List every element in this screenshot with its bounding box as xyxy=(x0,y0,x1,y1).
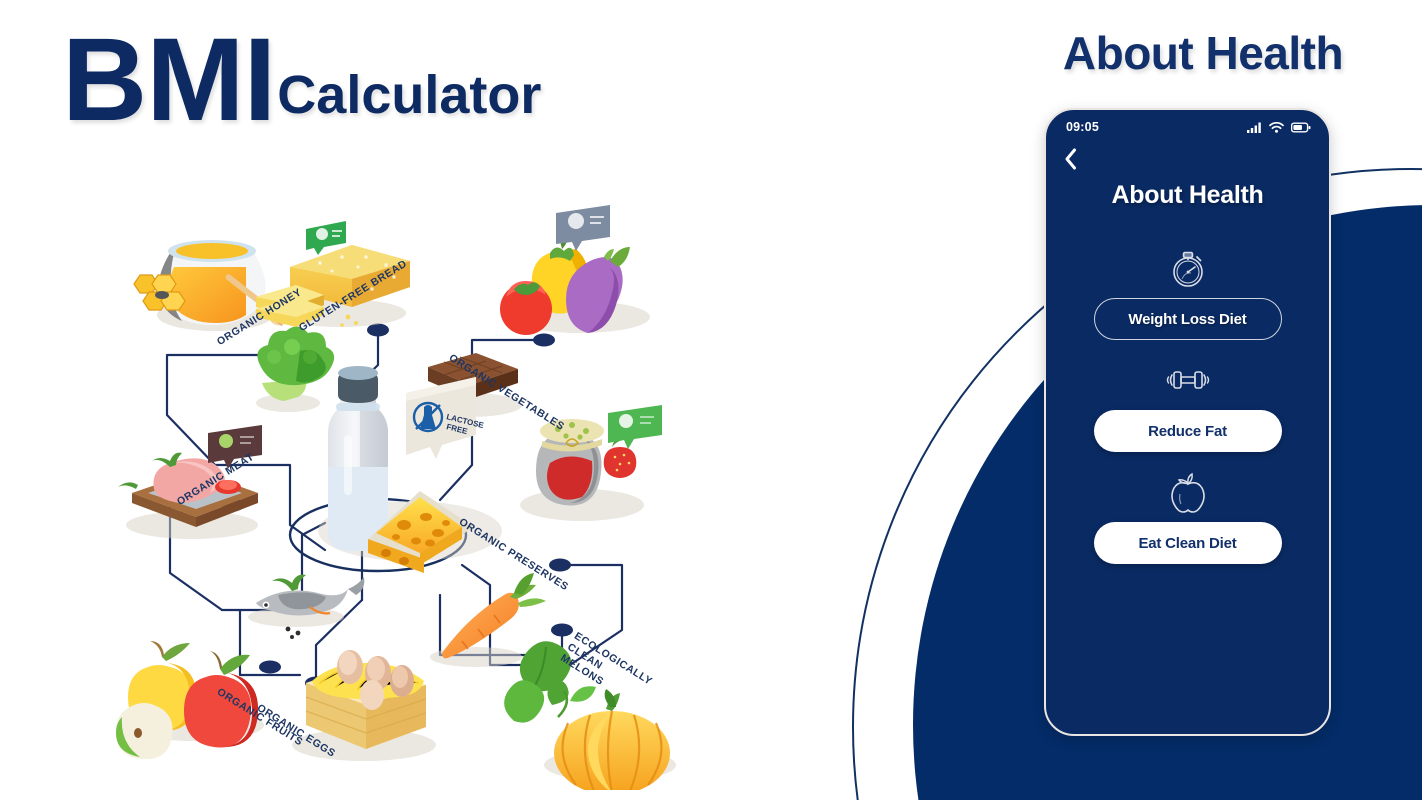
apple-icon xyxy=(1169,470,1207,514)
page-title: About Health xyxy=(1033,26,1373,80)
dumbbell-icon xyxy=(1165,358,1211,402)
back-button[interactable] xyxy=(1046,144,1329,175)
meat-illustration xyxy=(118,425,262,539)
bmi-logo: BMI Calculator xyxy=(62,24,541,136)
health-options-list: Weight Loss Diet Reduce Fat xyxy=(1046,246,1329,564)
logo-bmi-text: BMI xyxy=(62,24,275,136)
eat-clean-diet-button[interactable]: Eat Clean Diet xyxy=(1094,522,1282,564)
preserves-illustration xyxy=(520,405,662,521)
fish-illustration xyxy=(248,575,364,639)
phone-status-bar: 09:05 xyxy=(1046,110,1329,144)
phone-mockup: 09:05 xyxy=(1044,108,1331,736)
phone-screen-title: About Health xyxy=(1046,181,1329,210)
wifi-icon xyxy=(1269,122,1284,133)
option-weight-loss-diet: Weight Loss Diet xyxy=(1094,246,1282,340)
logo-calculator-text: Calculator xyxy=(277,68,541,122)
status-time: 09:05 xyxy=(1066,120,1099,134)
broccoli-illustration xyxy=(256,326,334,412)
page-root: BMI Calculator xyxy=(0,0,1422,800)
vegetables-illustration xyxy=(500,205,650,335)
reduce-fat-button[interactable]: Reduce Fat xyxy=(1094,410,1282,452)
back-chevron-icon[interactable] xyxy=(1064,148,1329,175)
option-reduce-fat: Reduce Fat xyxy=(1094,358,1282,452)
battery-icon xyxy=(1291,122,1311,133)
stopwatch-icon xyxy=(1168,246,1208,290)
weight-loss-diet-button[interactable]: Weight Loss Diet xyxy=(1094,298,1282,340)
option-eat-clean-diet: Eat Clean Diet xyxy=(1094,470,1282,564)
signal-bars-icon xyxy=(1247,122,1262,133)
status-icon-group xyxy=(1247,122,1311,133)
organic-food-infographic: LACTOSE FREE xyxy=(110,205,710,790)
